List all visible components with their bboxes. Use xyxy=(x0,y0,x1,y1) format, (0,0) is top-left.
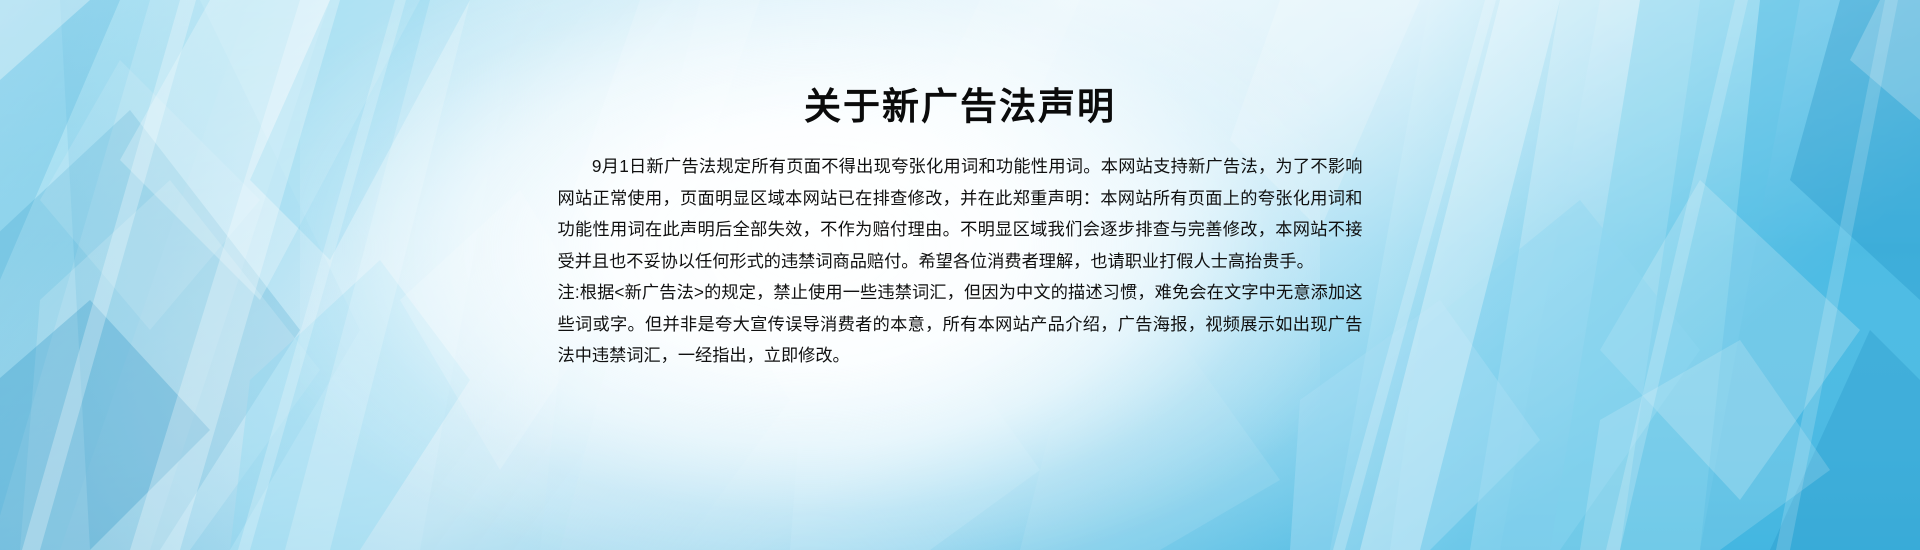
statement-content: 关于新广告法声明 9月1日新广告法规定所有页面不得出现夸张化用词和功能性用词。本… xyxy=(0,0,1920,550)
statement-body: 9月1日新广告法规定所有页面不得出现夸张化用词和功能性用词。本网站支持新广告法，… xyxy=(558,151,1363,372)
statement-paragraph-main: 9月1日新广告法规定所有页面不得出现夸张化用词和功能性用词。本网站支持新广告法，… xyxy=(558,151,1363,277)
statement-paragraph-note: 注:根据<新广告法>的规定，禁止使用一些违禁词汇，但因为中文的描述习惯，难免会在… xyxy=(558,277,1363,372)
page-title: 关于新广告法声明 xyxy=(804,84,1116,130)
advertising-law-statement-banner: 关于新广告法声明 9月1日新广告法规定所有页面不得出现夸张化用词和功能性用词。本… xyxy=(0,0,1920,550)
